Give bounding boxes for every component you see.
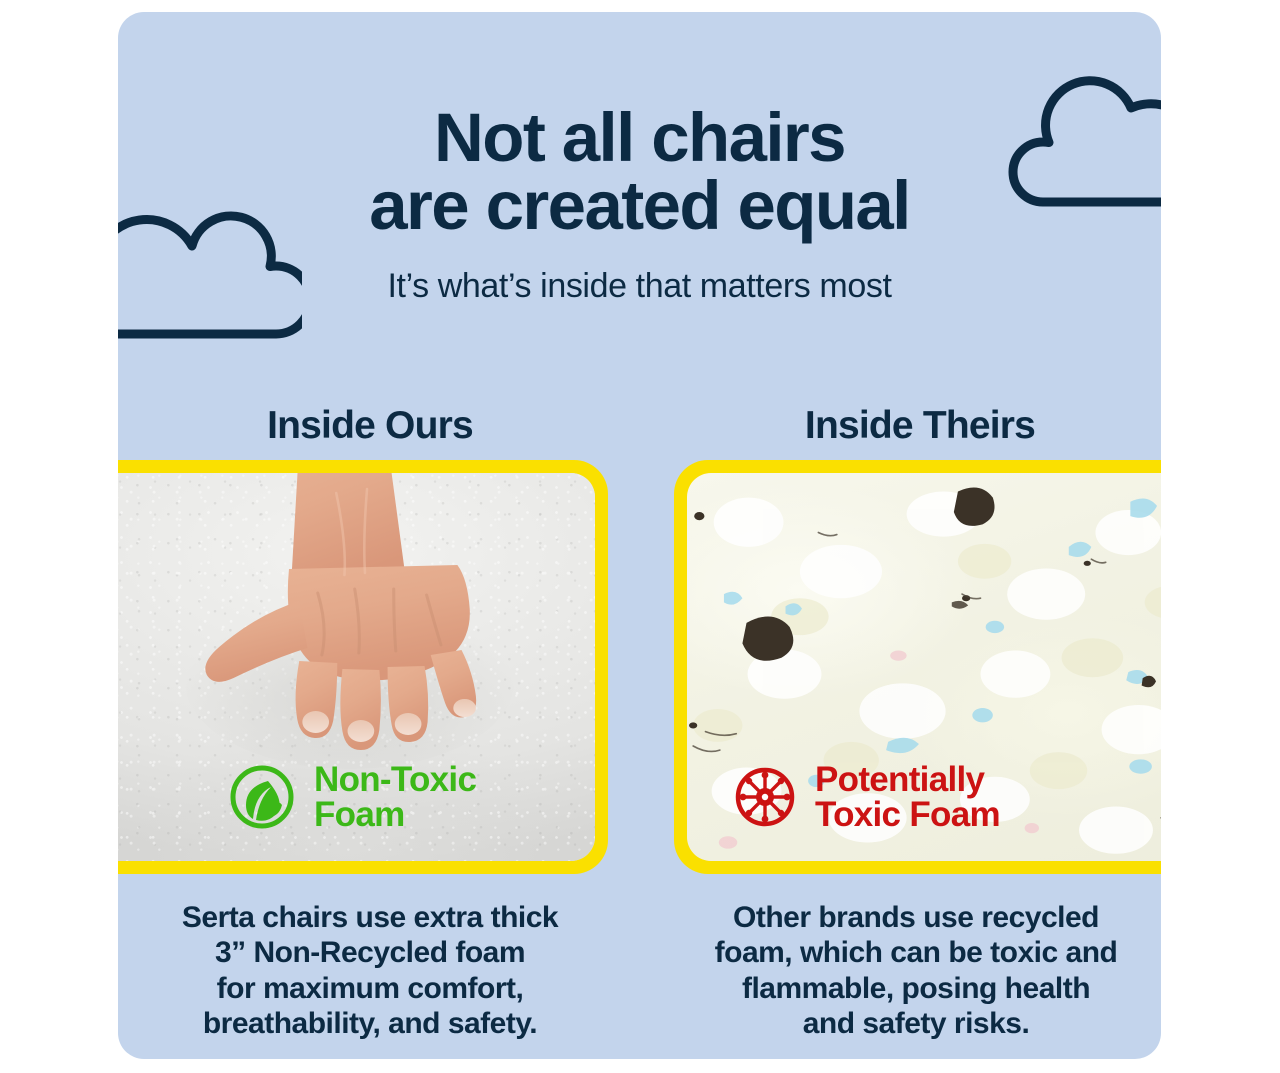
caption-inside-ours: Serta chairs use extra thick 3” Non-Recy… — [148, 900, 592, 1042]
column-title-theirs: Inside Theirs — [670, 404, 1161, 448]
infographic-card: Not all chairs are created equal It’s wh… — [118, 12, 1161, 1059]
column-title-ours: Inside Ours — [126, 404, 614, 448]
leaf-icon — [228, 763, 296, 831]
headline-line-1: Not all chairs — [434, 99, 845, 176]
badge-label-toxic: Potentially Toxic Foam — [815, 762, 1000, 833]
page-title: Not all chairs are created equal — [118, 104, 1161, 241]
germ-icon — [733, 765, 797, 829]
badge-label-non-toxic: Non-Toxic Foam — [314, 762, 476, 833]
panel-inside-theirs: Potentially Toxic Foam — [674, 460, 1161, 874]
infographic-stage: Not all chairs are created equal It’s wh… — [0, 0, 1280, 1073]
status-badge-toxic: Potentially Toxic Foam — [733, 762, 1000, 833]
image-non-recycled-foam: Non-Toxic Foam — [118, 473, 595, 861]
image-recycled-foam: Potentially Toxic Foam — [687, 473, 1161, 861]
caption-inside-theirs: Other brands use recycled foam, which ca… — [678, 900, 1154, 1042]
status-badge-non-toxic: Non-Toxic Foam — [228, 762, 476, 833]
panel-inside-ours: Non-Toxic Foam — [118, 460, 608, 874]
headline-line-2: are created equal — [118, 172, 1161, 240]
subheadline: It’s what’s inside that matters most — [118, 267, 1161, 306]
